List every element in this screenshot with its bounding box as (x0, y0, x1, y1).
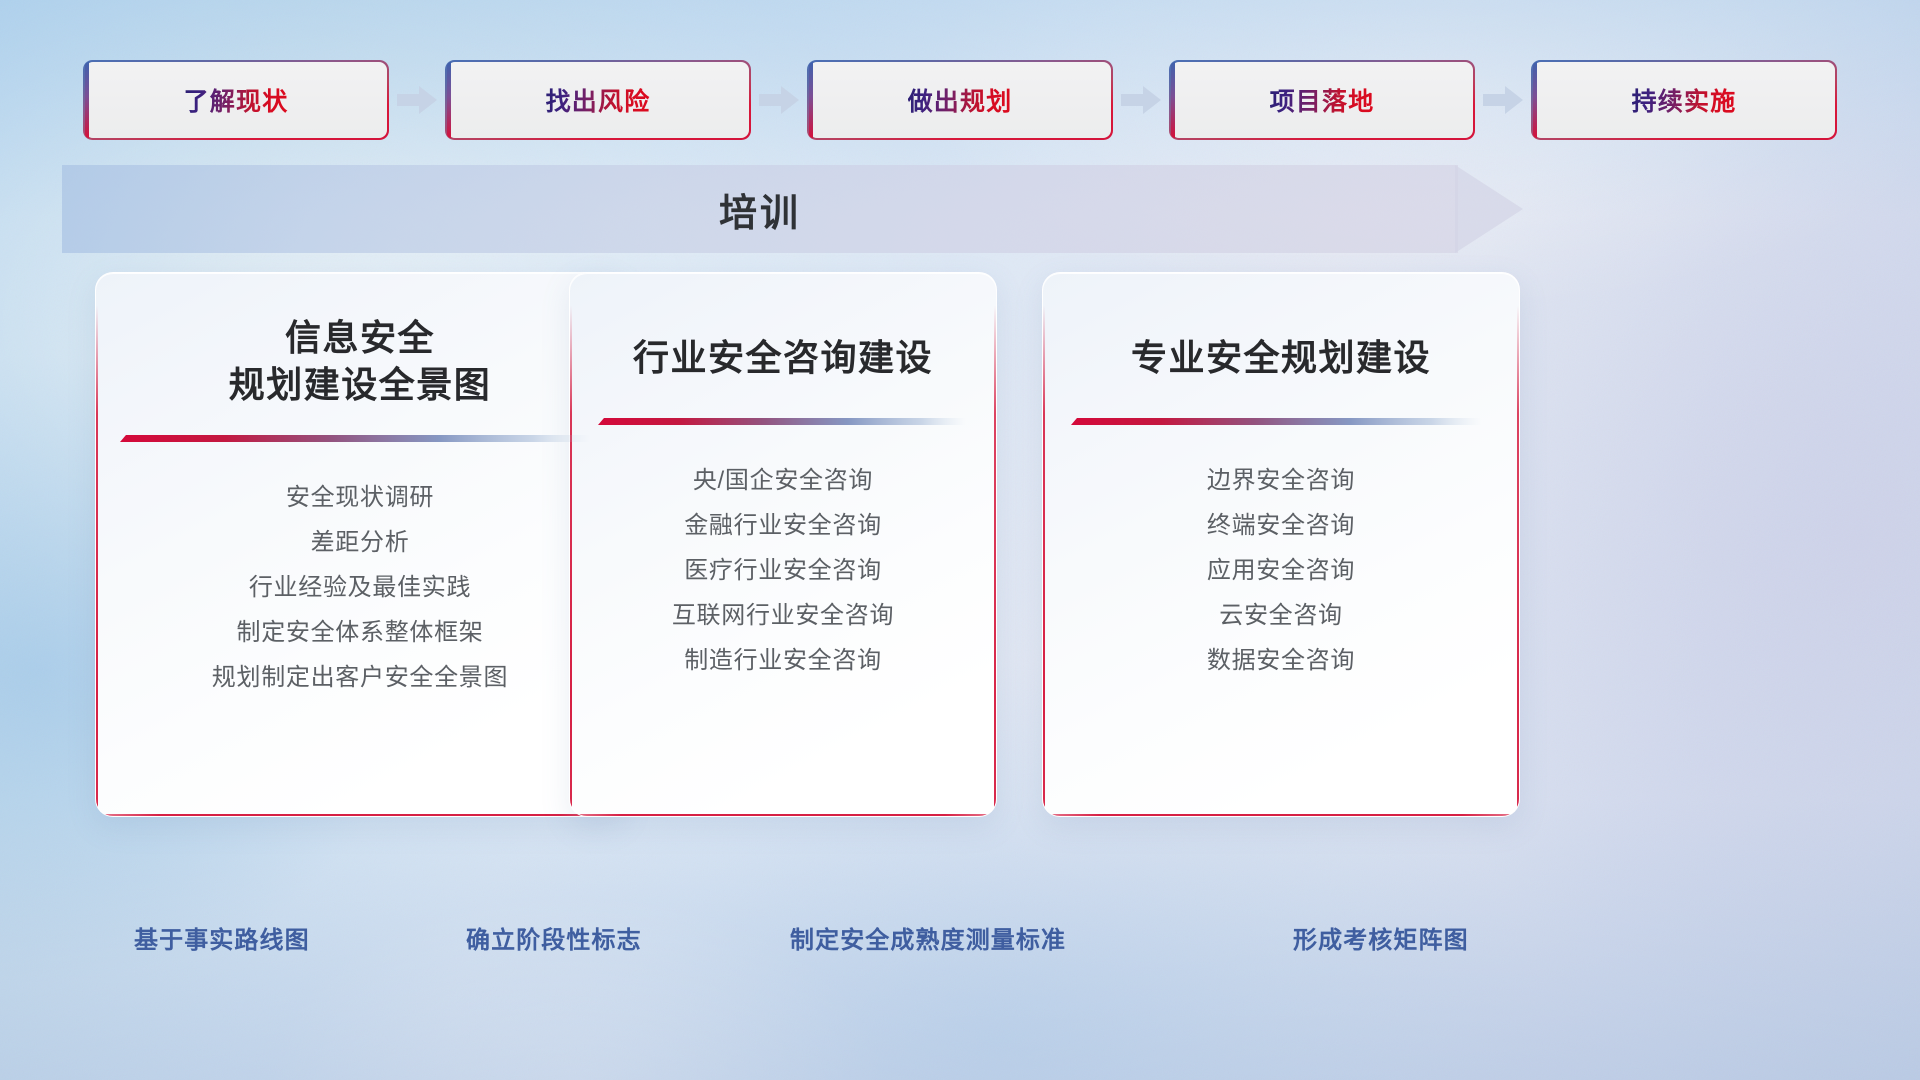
footer-label-milestones: 确立阶段性标志 (466, 920, 642, 955)
list-item[interactable]: 医疗行业安全咨询 (570, 549, 996, 594)
list-item[interactable]: 互联网行业安全咨询 (570, 594, 996, 639)
card-title-line: 规划建设全景图 (96, 362, 624, 409)
list-item[interactable]: 差距分析 (96, 521, 624, 566)
process-step-row: 了解现状 找出风险 做出规划 项目落地 持续实施 (0, 62, 1920, 138)
card-title-divider (1071, 416, 1481, 429)
card-title: 信息安全 规划建设全景图 (96, 315, 624, 409)
card-bottom-accent (570, 814, 996, 816)
card-item-list: 央/国企安全咨询 金融行业安全咨询 医疗行业安全咨询 互联网行业安全咨询 制造行… (570, 459, 996, 684)
card-title-line: 专业安全规划建设 (1043, 335, 1519, 382)
step-box-2[interactable]: 找出风险 (447, 62, 749, 138)
step-box-4[interactable]: 项目落地 (1171, 62, 1473, 138)
card-title: 专业安全规划建设 (1043, 335, 1519, 382)
step-label: 做出规划 (908, 82, 1013, 118)
footer-label-row: 基于事实路线图 确立阶段性标志 制定安全成熟度测量标准 形成考核矩阵图 (0, 920, 1920, 970)
footer-label-matrix: 形成考核矩阵图 (1293, 920, 1469, 955)
card-title-line: 行业安全咨询建设 (570, 335, 996, 382)
step-box-1[interactable]: 了解现状 (85, 62, 387, 138)
list-item[interactable]: 数据安全咨询 (1043, 639, 1519, 684)
arrow-right-icon (1483, 84, 1523, 116)
card-title: 行业安全咨询建设 (570, 335, 996, 382)
step-connector-2 (749, 62, 809, 138)
service-card-industry-consulting[interactable]: 行业安全咨询建设 央/国企安全咨询 金融行业安全咨询 (569, 272, 997, 817)
list-item[interactable]: 行业经验及最佳实践 (96, 566, 624, 611)
card-title-divider (120, 433, 590, 446)
footer-label-maturity: 制定安全成熟度测量标准 (790, 920, 1066, 955)
list-item[interactable]: 规划制定出客户安全全景图 (96, 656, 624, 701)
arrow-right-icon (397, 84, 437, 116)
list-item[interactable]: 制定安全体系整体框架 (96, 611, 624, 656)
step-connector-3 (1111, 62, 1171, 138)
training-banner-label: 培训 (62, 165, 1458, 253)
list-item[interactable]: 金融行业安全咨询 (570, 504, 996, 549)
arrow-right-icon (1121, 84, 1161, 116)
step-connector-4 (1473, 62, 1533, 138)
service-card-group: 信息安全 规划建设全景图 安全现状调研 差 (0, 272, 1920, 872)
list-item[interactable]: 边界安全咨询 (1043, 459, 1519, 504)
step-label: 持续实施 (1632, 82, 1737, 118)
card-item-list: 边界安全咨询 终端安全咨询 应用安全咨询 云安全咨询 数据安全咨询 (1043, 459, 1519, 684)
service-card-information-security[interactable]: 信息安全 规划建设全景图 安全现状调研 差 (95, 272, 625, 817)
step-box-3[interactable]: 做出规划 (809, 62, 1111, 138)
service-card-professional-planning[interactable]: 专业安全规划建设 边界安全咨询 终端安全咨询 (1042, 272, 1520, 817)
banner-arrowhead-icon (1455, 151, 1523, 267)
list-item[interactable]: 安全现状调研 (96, 476, 624, 521)
list-item[interactable]: 应用安全咨询 (1043, 549, 1519, 594)
training-banner: 培训 (62, 165, 1520, 253)
card-item-list: 安全现状调研 差距分析 行业经验及最佳实践 制定安全体系整体框架 规划制定出客户… (96, 476, 624, 701)
card-bottom-accent (96, 814, 624, 816)
step-label: 找出风险 (546, 82, 651, 118)
step-label: 项目落地 (1270, 82, 1375, 118)
card-bottom-accent (1043, 814, 1519, 816)
card-title-line: 信息安全 (96, 315, 624, 362)
step-connector-1 (387, 62, 447, 138)
arrow-right-icon (759, 84, 799, 116)
footer-label-roadmap: 基于事实路线图 (134, 920, 310, 955)
card-title-divider (598, 416, 966, 429)
list-item[interactable]: 央/国企安全咨询 (570, 459, 996, 504)
list-item[interactable]: 终端安全咨询 (1043, 504, 1519, 549)
step-box-5[interactable]: 持续实施 (1533, 62, 1835, 138)
list-item[interactable]: 制造行业安全咨询 (570, 639, 996, 684)
list-item[interactable]: 云安全咨询 (1043, 594, 1519, 639)
step-label: 了解现状 (184, 82, 289, 118)
